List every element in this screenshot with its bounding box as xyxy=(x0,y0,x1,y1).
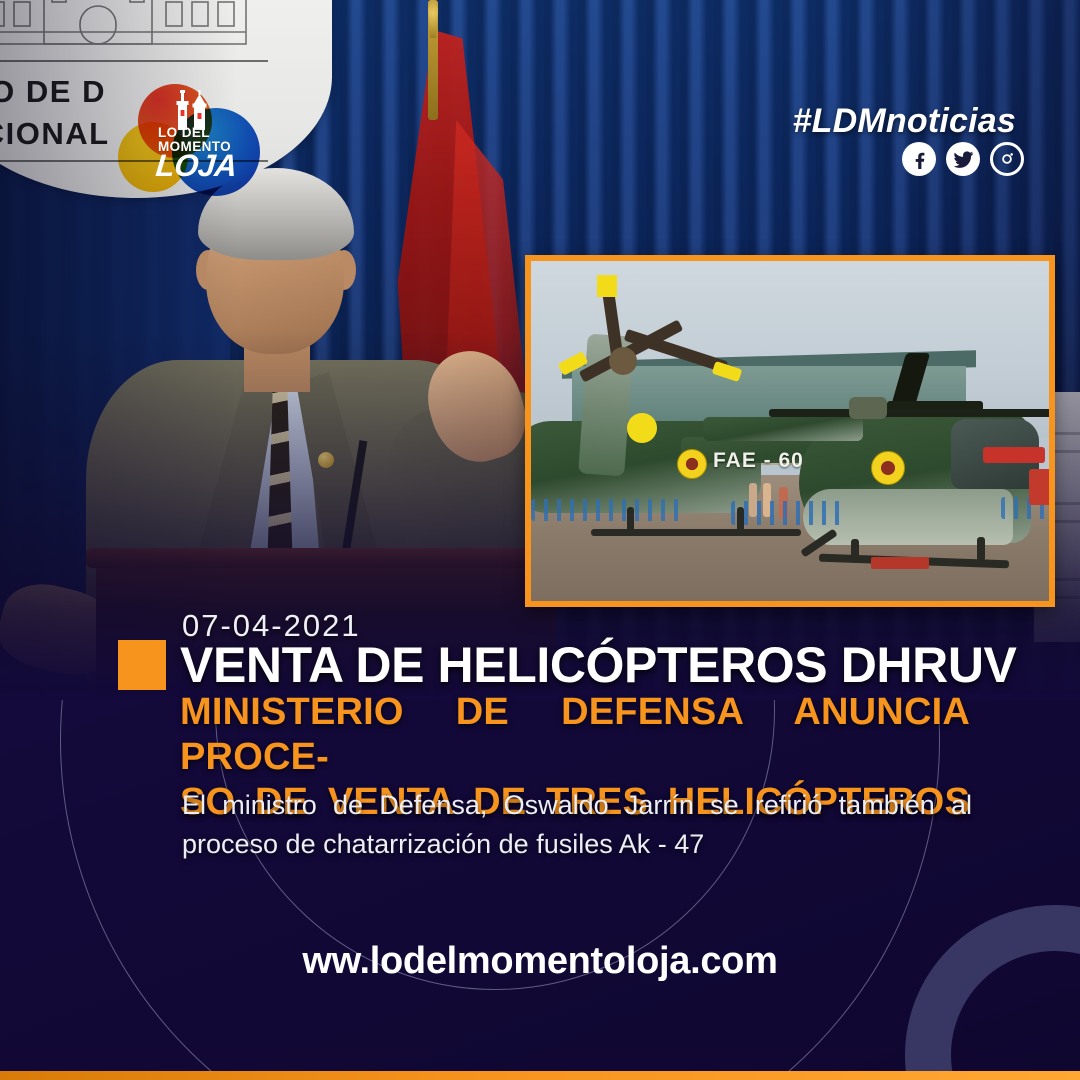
helicopter-front-strut-b xyxy=(977,537,985,561)
subheadline-line-1: MINISTERIO DE DEFENSA ANUNCIA PROCE- xyxy=(180,690,970,780)
news-graphic-canvas: ERIO DE D NACIONAL xyxy=(0,0,1080,1080)
logo-text-loja: LOJA xyxy=(154,150,238,181)
story-body: El ministro de Defensa, Oswaldo Jarrín s… xyxy=(182,786,972,864)
helicopter-front-strut-a xyxy=(851,539,859,563)
facebook-glyph xyxy=(909,149,929,169)
instagram-glyph xyxy=(998,150,1016,168)
instagram-icon[interactable] xyxy=(990,142,1024,176)
rotor-hub xyxy=(609,347,637,375)
safety-barrier xyxy=(731,501,841,525)
inset-helicopter-photo: FAE - 604 xyxy=(525,255,1055,607)
helicopter-rear-skid xyxy=(591,529,801,536)
headline: VENTA DE HELICÓPTEROS DHRUV xyxy=(180,636,1017,694)
bottom-accent-bar xyxy=(0,1071,1080,1080)
helicopter-rear-fin-band xyxy=(627,413,657,443)
website-url[interactable]: ww.lodelmomentoloja.com xyxy=(0,940,1080,983)
helicopter-front-main-rotor xyxy=(769,409,1055,417)
twitter-bird-glyph xyxy=(953,149,974,170)
helicopter-rear-roundel xyxy=(677,449,707,479)
logo-text-line1: LO DEL xyxy=(158,125,210,140)
church-tower-icon xyxy=(174,90,208,130)
helicopter-front-tailboom xyxy=(703,417,863,441)
social-links xyxy=(902,142,1024,176)
safety-barrier xyxy=(531,499,681,521)
rotor-mast-tip xyxy=(597,275,617,297)
helicopter-front-roundel xyxy=(871,451,905,485)
helicopter-front-ground-marker xyxy=(871,557,929,569)
accent-square xyxy=(118,640,166,690)
banner-sign-red xyxy=(983,447,1045,463)
facebook-icon[interactable] xyxy=(902,142,936,176)
helicopter-front-rotor-head xyxy=(849,397,887,419)
tent-red xyxy=(1029,469,1055,505)
hashtag-label: #LDMnoticias xyxy=(793,102,1016,141)
brand-logo[interactable]: LO DEL MOMENTO LOJA xyxy=(112,84,264,196)
decorative-ring-bottom-right xyxy=(905,905,1080,1080)
twitter-icon[interactable] xyxy=(946,142,980,176)
